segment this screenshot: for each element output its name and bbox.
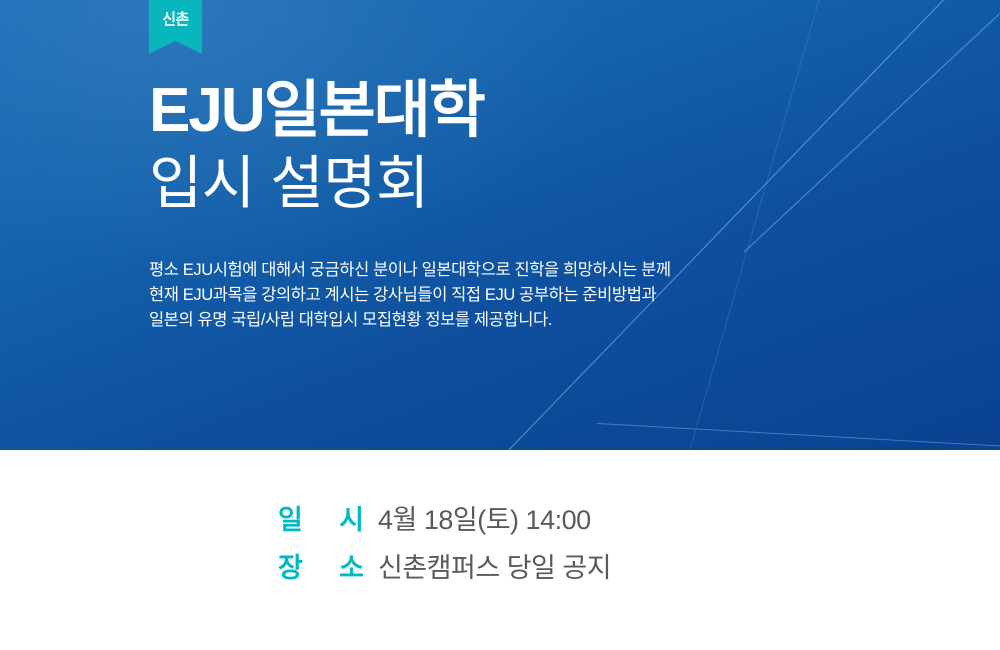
description-line-3: 일본의 유명 국립/사립 대학입시 모집현황 정보를 제공합니다.	[149, 308, 671, 333]
diagonal-accent-line	[459, 0, 946, 450]
campus-ribbon-badge: 신촌	[149, 0, 202, 54]
event-detail-row-location: 장 소 신촌캠퍼스 당일 공지	[0, 546, 1000, 594]
campus-ribbon-label: 신촌	[162, 0, 189, 27]
location-label: 장 소	[278, 546, 364, 585]
datetime-label-char-1: 일	[278, 498, 303, 537]
event-details: 일 시 4월 18일(토) 14:00 장 소 신촌캠퍼스 당일 공지	[0, 498, 1000, 594]
description-block: 평소 EJU시험에 대해서 궁금하신 분이나 일본대학으로 진학을 희망하시는 …	[149, 258, 671, 333]
promo-poster: 신촌 EJU일본대학 입시 설명회 평소 EJU시험에 대해서 궁금하신 분이나…	[0, 0, 1000, 650]
hero-banner: 신촌 EJU일본대학 입시 설명회 평소 EJU시험에 대해서 궁금하신 분이나…	[0, 0, 1000, 450]
datetime-label: 일 시	[278, 498, 364, 537]
title-line-primary: EJU일본대학	[149, 78, 484, 144]
datetime-value: 4월 18일(토) 14:00	[378, 498, 591, 537]
location-label-char-2: 소	[339, 546, 364, 585]
event-detail-row-datetime: 일 시 4월 18일(토) 14:00	[0, 498, 1000, 546]
location-value: 신촌캠퍼스 당일 공지	[378, 546, 611, 585]
diagonal-accent-line	[597, 423, 1000, 447]
datetime-label-char-2: 시	[339, 498, 364, 537]
title-line-secondary: 입시 설명회	[149, 152, 484, 216]
description-line-2: 현재 EJU과목을 강의하고 계시는 강사님들이 직접 EJU 공부하는 준비방…	[149, 283, 671, 308]
description-line-1: 평소 EJU시험에 대해서 궁금하신 분이나 일본대학으로 진학을 희망하시는 …	[149, 258, 671, 283]
location-label-char-1: 장	[278, 546, 303, 585]
diagonal-accent-line	[648, 0, 820, 450]
page-title: EJU일본대학 입시 설명회	[149, 78, 484, 216]
diagonal-accent-line	[743, 13, 1000, 252]
hero-sheen-overlay	[0, 0, 1000, 450]
